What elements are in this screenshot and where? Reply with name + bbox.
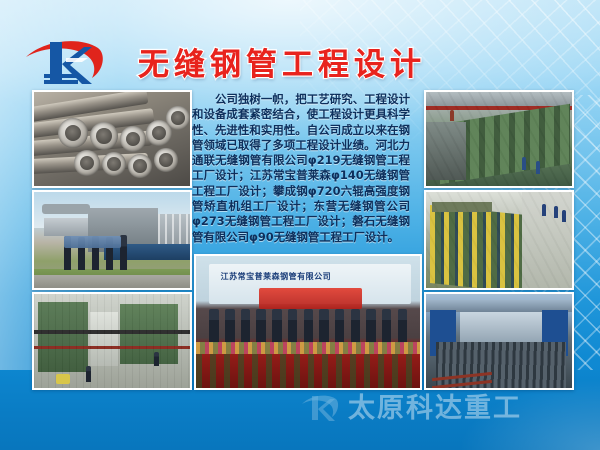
equipment-assembly-workshop-photo — [424, 90, 574, 188]
body-paragraph: 公司独树一帜，把工艺研究、工程设计和设备成套紧密结合，使工程设计更具科学性、先进… — [192, 92, 410, 245]
photo-content — [34, 92, 190, 186]
poster-canvas: 无缝钢管工程设计 无缝钢管工程设计 公司独树一帜，把工艺研究、工程设计和设备成套… — [0, 0, 600, 450]
page-title: 无缝钢管工程设计 — [138, 44, 478, 86]
ceremony-banner-text: 江苏常宝普莱森钢管有限公司 — [221, 271, 332, 282]
photo-content — [426, 294, 572, 388]
photo-content — [426, 192, 572, 288]
factory-gate-staff-photo — [32, 190, 192, 290]
opening-ceremony-photo: 江苏常宝普莱森钢管有限公司 — [194, 254, 422, 390]
seamless-steel-pipes-photo — [32, 90, 192, 188]
kedas-logo — [22, 34, 108, 92]
machine-units-yard-photo — [424, 190, 574, 290]
production-line-overview-photo — [32, 292, 192, 390]
photo-content — [34, 294, 190, 388]
photo-content — [34, 192, 190, 288]
cooling-bed-workshop-photo — [424, 292, 574, 390]
photo-content — [426, 92, 572, 186]
photo-content: 江苏常宝普莱森钢管有限公司 — [196, 256, 420, 388]
